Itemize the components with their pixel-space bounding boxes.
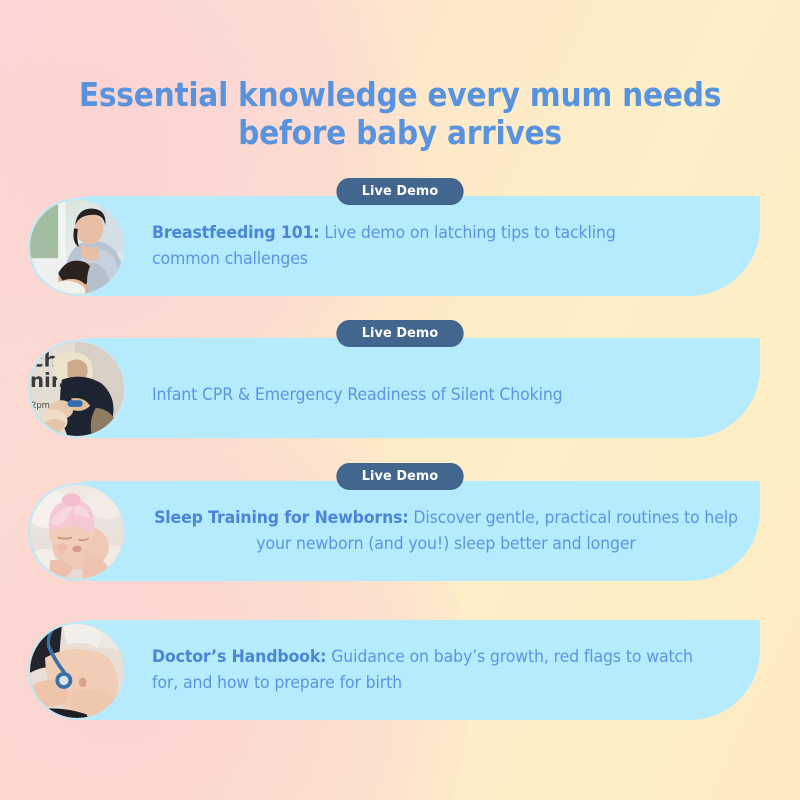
sleeping-newborn-photo xyxy=(30,485,124,579)
feature-lead: Doctor’s Handbook: xyxy=(152,647,326,666)
poster-canvas: Essential knowledge every mum needs befo… xyxy=(0,0,800,800)
poster-content: Essential knowledge every mum needs befo… xyxy=(0,0,800,800)
feature-text: Sleep Training for Newborns: Discover ge… xyxy=(154,505,738,556)
feature-text: Infant CPR & Emergency Readiness of Sile… xyxy=(152,382,706,408)
feature-text: Doctor’s Handbook: Guidance on baby’s gr… xyxy=(152,644,706,695)
infant-cpr-photo: ch nina 2pm - 6pm xyxy=(30,342,124,436)
doctor-stethoscope-photo xyxy=(30,624,124,718)
live-demo-badge[interactable]: Live Demo xyxy=(336,463,463,490)
avatar: ch nina 2pm - 6pm xyxy=(28,340,126,438)
feature-body: Infant CPR & Emergency Readiness of Sile… xyxy=(152,385,563,404)
live-demo-badge[interactable]: Live Demo xyxy=(336,320,463,347)
page-title: Essential knowledge every mum needs befo… xyxy=(40,76,760,153)
avatar xyxy=(28,483,126,581)
live-demo-badge[interactable]: Live Demo xyxy=(336,178,463,205)
feature-lead: Sleep Training for Newborns: xyxy=(154,508,408,527)
avatar xyxy=(28,622,126,720)
avatar xyxy=(28,198,126,296)
breastfeeding-photo xyxy=(30,200,124,294)
feature-lead: Breastfeeding 101: xyxy=(152,223,320,242)
feature-text: Breastfeeding 101: Live demo on latching… xyxy=(152,220,687,271)
